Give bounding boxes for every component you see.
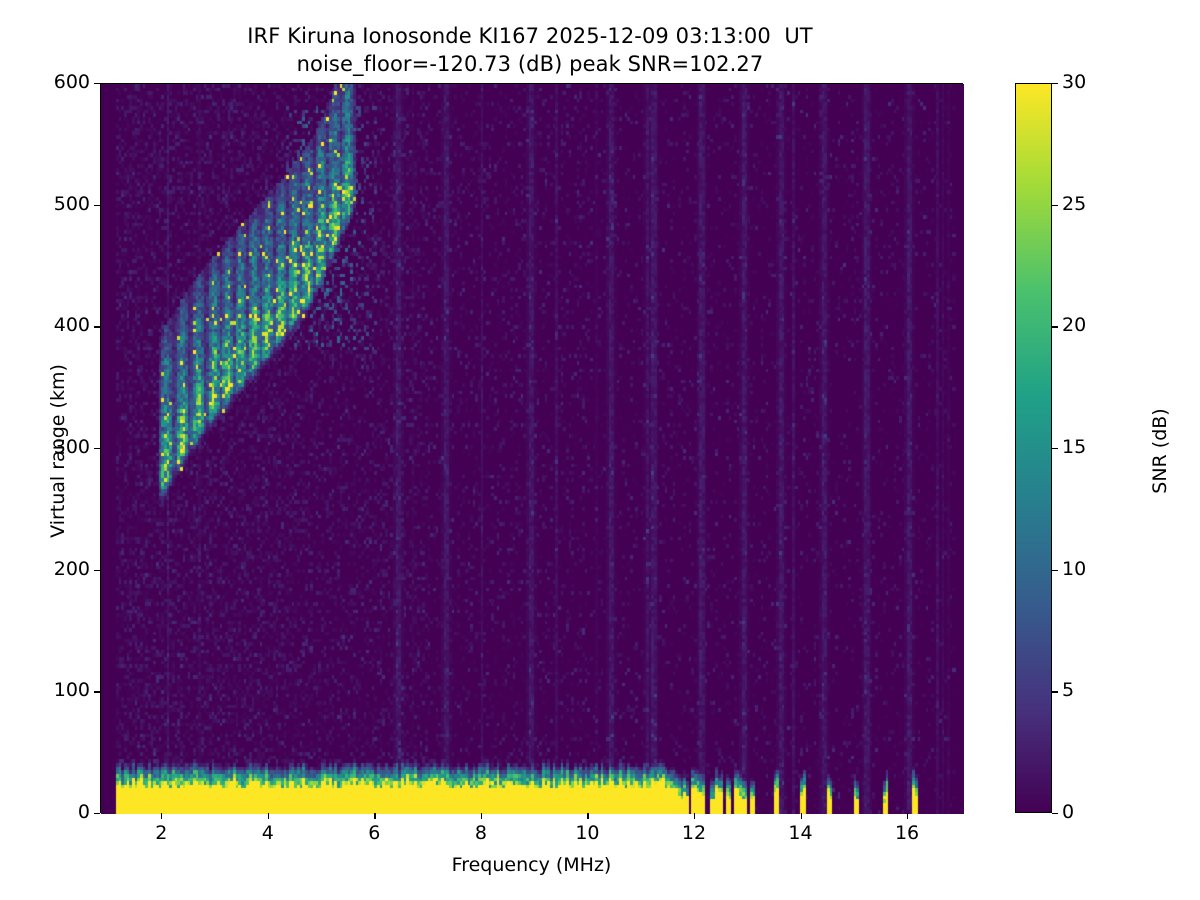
y-tick-label: 200 <box>0 558 90 580</box>
colorbar-tick-mark <box>1052 326 1058 327</box>
y-tick-mark <box>94 448 100 449</box>
x-tick-mark <box>161 813 162 819</box>
x-tick-label: 16 <box>877 822 937 844</box>
x-tick-label: 2 <box>131 822 191 844</box>
x-tick-label: 8 <box>451 822 511 844</box>
y-tick-mark <box>94 326 100 327</box>
figure-title-line-1: IRF Kiruna Ionosonde KI167 2025-12-09 03… <box>0 24 1060 48</box>
x-axis-label: Frequency (MHz) <box>100 854 963 876</box>
colorbar-gradient <box>1016 84 1051 812</box>
y-tick-mark <box>94 691 100 692</box>
ionogram-plot-area <box>100 83 963 813</box>
colorbar-tick-label: 0 <box>1062 801 1074 823</box>
x-tick-label: 6 <box>344 822 404 844</box>
y-tick-label: 600 <box>0 71 90 93</box>
ionogram-heatmap-canvas <box>101 84 964 814</box>
colorbar-tick-label: 15 <box>1062 436 1086 458</box>
colorbar-label: SNR (dB) <box>1149 331 1171 571</box>
x-tick-mark <box>801 813 802 819</box>
x-tick-label: 4 <box>238 822 298 844</box>
y-tick-label: 500 <box>0 193 90 215</box>
y-tick-label: 100 <box>0 679 90 701</box>
colorbar-tick-label: 20 <box>1062 314 1086 336</box>
colorbar-tick-mark <box>1052 691 1058 692</box>
x-tick-mark <box>694 813 695 819</box>
x-tick-label: 12 <box>664 822 724 844</box>
x-tick-label: 10 <box>557 822 617 844</box>
colorbar-tick-mark <box>1052 448 1058 449</box>
x-tick-mark <box>481 813 482 819</box>
x-tick-mark <box>374 813 375 819</box>
y-tick-mark <box>94 83 100 84</box>
ionogram-figure: IRF Kiruna Ionosonde KI167 2025-12-09 03… <box>0 0 1200 900</box>
y-tick-label: 400 <box>0 314 90 336</box>
y-axis-label: Virtual range (km) <box>47 331 69 571</box>
colorbar-tick-label: 30 <box>1062 71 1086 93</box>
colorbar-tick-label: 25 <box>1062 193 1086 215</box>
y-tick-label: 300 <box>0 436 90 458</box>
colorbar-tick-mark <box>1052 813 1058 814</box>
y-tick-label: 0 <box>0 801 90 823</box>
colorbar-tick-mark <box>1052 83 1058 84</box>
x-tick-mark <box>907 813 908 819</box>
y-tick-mark <box>94 570 100 571</box>
colorbar-tick-mark <box>1052 570 1058 571</box>
x-tick-mark <box>587 813 588 819</box>
x-tick-mark <box>268 813 269 819</box>
figure-title-line-2: noise_floor=-120.73 (dB) peak SNR=102.27 <box>0 52 1060 76</box>
y-tick-mark <box>94 205 100 206</box>
x-tick-label: 14 <box>771 822 831 844</box>
y-tick-mark <box>94 813 100 814</box>
colorbar <box>1015 83 1052 813</box>
colorbar-tick-label: 10 <box>1062 558 1086 580</box>
colorbar-tick-label: 5 <box>1062 679 1074 701</box>
colorbar-tick-mark <box>1052 205 1058 206</box>
